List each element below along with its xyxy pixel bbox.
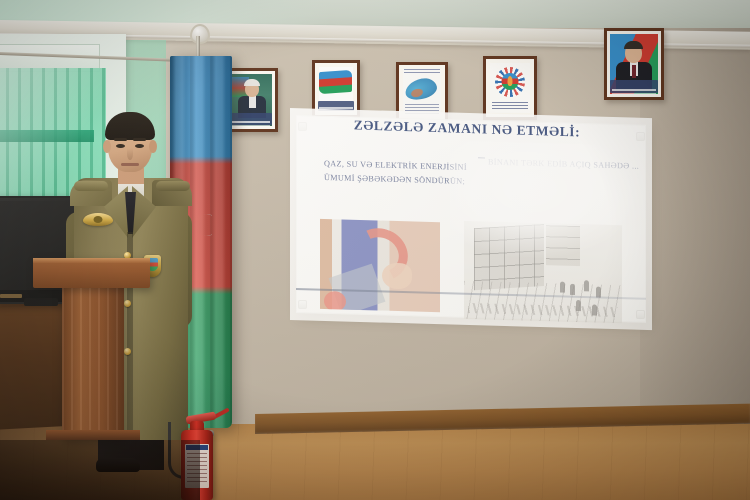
- slide-person-shape: [560, 282, 565, 293]
- slide-bullet-left: QAZ, SU VƏ ELEKTRİK ENERJİSİNİ ÜMUMİ ŞƏB…: [324, 157, 474, 188]
- podium-wood-grain: [62, 288, 124, 440]
- speaker-mouth: [121, 163, 139, 166]
- monitor-stand: [24, 298, 58, 306]
- slide-person-shape: [584, 280, 589, 291]
- uniform-button-icon: [124, 300, 131, 307]
- portrait2-nameplate: [610, 80, 658, 93]
- speaker-ear-left: [103, 140, 111, 153]
- slide-person-shape: [570, 284, 575, 295]
- flagpole-finial-icon: [190, 24, 210, 44]
- podium-base: [46, 430, 140, 440]
- portrait-nameplate: [228, 113, 272, 125]
- speaker-epaulette-right: [156, 181, 190, 191]
- wing-badge-icon: [83, 213, 113, 226]
- extinguisher-label-text: [187, 453, 207, 485]
- slide-hand-shape: [382, 263, 412, 290]
- speaker-eye-right: [135, 144, 144, 148]
- speaker-eyebrow-right: [133, 138, 146, 141]
- emblem-flame-icon: [508, 76, 513, 86]
- slide-bullet-right: BİNANI TƏRK EDİB AÇIQ SAHƏDƏ ...: [488, 156, 648, 174]
- azerbaijan-emblem-poster: [483, 56, 537, 120]
- portrait-nameplate-text: [230, 121, 270, 123]
- slide-bullet-dash-icon: [478, 157, 485, 158]
- portrait-hair: [244, 79, 260, 86]
- speaker-nose: [127, 148, 133, 160]
- portrait2-tie: [632, 65, 636, 78]
- podium-top-edge: [33, 258, 150, 263]
- flag-poster-graphic: [319, 70, 352, 94]
- speaker-eye-left: [116, 144, 125, 148]
- slide-building-shape: [474, 224, 544, 290]
- speaker-shoe: [96, 458, 140, 472]
- speaker-eyebrow-left: [114, 138, 127, 141]
- slide-title: ZƏLZƏLƏ ZAMANI NƏ ETMƏLİ:: [342, 117, 592, 141]
- portrait2-hair: [624, 41, 643, 49]
- monitor-logo: [0, 294, 22, 298]
- slide-valve-shape: [324, 291, 346, 312]
- slide-image-evacuation: [464, 221, 622, 323]
- portrait2-nameplate-text: [612, 89, 655, 91]
- map-poster-heading: [404, 69, 440, 74]
- speaker-epaulette-left: [74, 181, 108, 191]
- portrait-ilham-aliyev: [604, 28, 664, 100]
- emblem-poster-text: [492, 102, 528, 111]
- extinguisher-label-header: [186, 445, 208, 450]
- slide-building2-shape: [546, 225, 580, 266]
- portrait-shirt: [249, 96, 256, 108]
- speaker-ear-right: [149, 140, 157, 153]
- uniform-button-icon: [124, 348, 131, 355]
- photo-scene: ZƏLZƏLƏ ZAMANI NƏ ETMƏLİ: QAZ, SU VƏ ELE…: [0, 0, 750, 500]
- slide-image-shutoff: [320, 219, 440, 312]
